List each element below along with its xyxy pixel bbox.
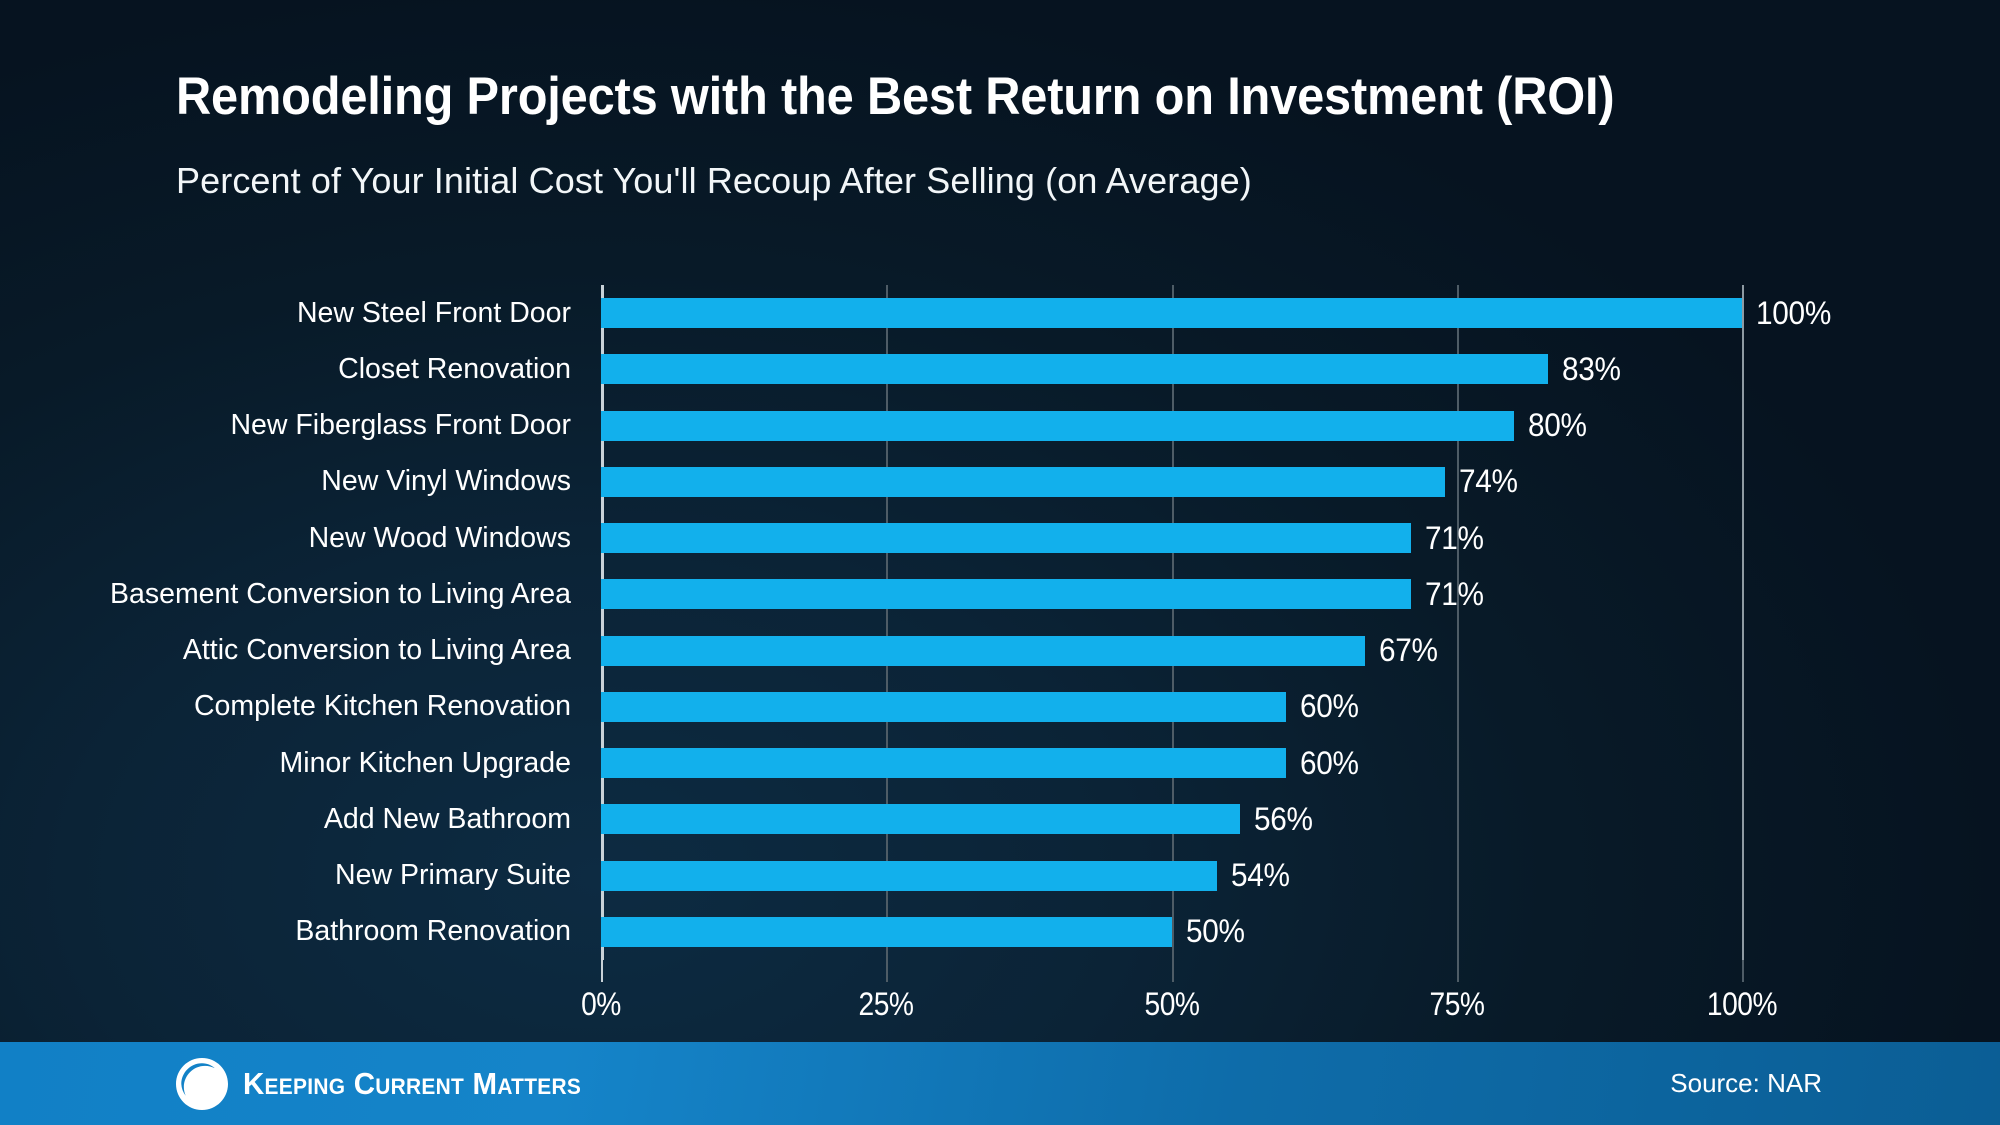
category-label: Bathroom Renovation — [0, 904, 571, 960]
category-label: Complete Kitchen Renovation — [0, 679, 571, 735]
bar[interactable] — [601, 917, 1172, 947]
bar-row: 54% — [601, 848, 1294, 904]
bar-row: 74% — [601, 454, 1522, 510]
bar-row: 83% — [601, 341, 1625, 397]
category-label: New Fiberglass Front Door — [0, 398, 571, 454]
bar-row: 80% — [601, 398, 1591, 454]
bar-value-label: 60% — [1300, 745, 1359, 782]
x-tick-label: 75% — [1429, 986, 1484, 1023]
category-label: Closet Renovation — [0, 341, 571, 397]
bar-row: 50% — [601, 904, 1249, 960]
page-subtitle: Percent of Your Initial Cost You'll Reco… — [176, 160, 1252, 202]
bar[interactable] — [601, 298, 1742, 328]
bar[interactable] — [601, 692, 1286, 722]
bar-value-label: 54% — [1231, 857, 1290, 894]
bar-value-label: 83% — [1562, 351, 1621, 388]
bar-row: 56% — [601, 791, 1317, 847]
category-label: Basement Conversion to Living Area — [0, 566, 571, 622]
category-label: New Primary Suite — [0, 848, 571, 904]
bar-value-label: 56% — [1254, 801, 1313, 838]
bar-value-label: 100% — [1756, 295, 1831, 332]
bar[interactable] — [601, 523, 1411, 553]
x-tick-label: 0% — [581, 986, 621, 1023]
category-axis-labels: New Steel Front DoorCloset RenovationNew… — [0, 285, 571, 960]
bar[interactable] — [601, 861, 1217, 891]
bar[interactable] — [601, 804, 1240, 834]
bar-value-label: 80% — [1528, 407, 1587, 444]
footer-bar: Keeping Current Matters Source: NAR — [0, 1042, 2000, 1125]
bar[interactable] — [601, 411, 1514, 441]
category-label: Add New Bathroom — [0, 791, 571, 847]
category-label: New Vinyl Windows — [0, 454, 571, 510]
bar-value-label: 60% — [1300, 688, 1359, 725]
gridline-100% — [1742, 285, 1744, 960]
bar-value-label: 74% — [1459, 463, 1518, 500]
category-label: New Wood Windows — [0, 510, 571, 566]
bar-value-label: 50% — [1186, 913, 1245, 950]
x-tick-label: 100% — [1707, 986, 1777, 1023]
bar-row: 60% — [601, 679, 1363, 735]
source-note: Source: NAR — [1670, 1068, 1822, 1099]
x-tick — [601, 960, 603, 982]
bar[interactable] — [601, 748, 1286, 778]
bar-row: 60% — [601, 735, 1363, 791]
category-label: Minor Kitchen Upgrade — [0, 735, 571, 791]
bar[interactable] — [601, 636, 1365, 666]
bar-value-label: 71% — [1425, 576, 1484, 613]
x-tick — [886, 960, 888, 982]
bar-value-label: 67% — [1379, 632, 1438, 669]
x-tick-label: 50% — [1144, 986, 1199, 1023]
x-tick-label: 25% — [859, 986, 914, 1023]
x-tick — [1172, 960, 1174, 982]
bar-value-label: 71% — [1425, 520, 1484, 557]
x-tick — [1742, 960, 1744, 982]
bar-row: 67% — [601, 623, 1443, 679]
category-label: New Steel Front Door — [0, 285, 571, 341]
brand-logo: Keeping Current Matters — [176, 1058, 599, 1110]
bar[interactable] — [601, 579, 1411, 609]
page-title: Remodeling Projects with the Best Return… — [176, 66, 1614, 127]
x-tick — [1457, 960, 1459, 982]
x-axis: 0%25%50%75%100% — [601, 960, 1742, 1020]
bar-rows: 100%83%80%74%71%71%67%60%60%56%54%50% — [601, 285, 1742, 960]
bar[interactable] — [601, 354, 1548, 384]
category-label: Attic Conversion to Living Area — [0, 623, 571, 679]
bar-row: 71% — [601, 510, 1488, 566]
bar[interactable] — [601, 467, 1445, 497]
bar-row: 71% — [601, 566, 1488, 622]
bar-chart-plot-area: New Steel Front DoorCloset RenovationNew… — [601, 285, 1742, 960]
brand-name: Keeping Current Matters — [243, 1066, 581, 1102]
slide-canvas: Remodeling Projects with the Best Return… — [0, 0, 2000, 1125]
kcm-swirl-logo-icon — [176, 1058, 228, 1110]
bar-row: 100% — [601, 285, 1837, 341]
